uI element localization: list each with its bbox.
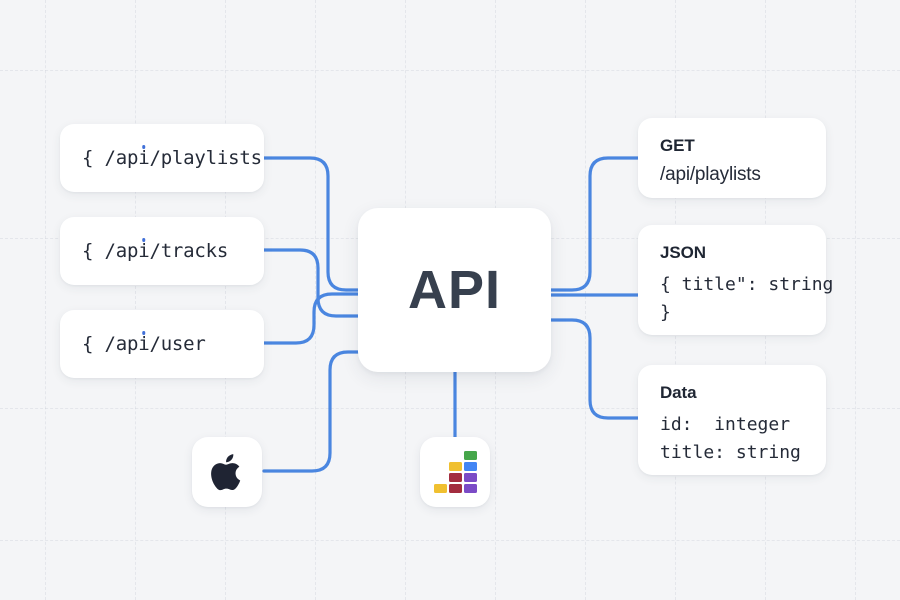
- diagram-canvas: { /api/playlists { /api/tracks { /api/us…: [0, 0, 900, 600]
- response-card-json-line-2: }: [660, 299, 804, 327]
- apple-client-tile[interactable]: [192, 437, 262, 507]
- color-block-4: [464, 473, 477, 482]
- response-card-get[interactable]: GET /api/playlists: [638, 118, 826, 198]
- api-node[interactable]: API: [358, 208, 551, 372]
- api-i-accent: i: [138, 240, 149, 262]
- color-block-6: [449, 484, 462, 493]
- grid-line-vertical-3: [315, 0, 317, 600]
- response-card-get-path: /api/playlists: [660, 164, 804, 186]
- api-i-accent: i: [138, 333, 149, 355]
- wire-user-to-api: [264, 294, 358, 343]
- request-card-tracks-label: { /api/tracks: [82, 240, 242, 262]
- grid-line-horizontal-3: [0, 540, 900, 542]
- grid-line-vertical-6: [585, 0, 587, 600]
- grid-line-vertical-9: [855, 0, 857, 600]
- response-card-json-line-1: { title": string: [660, 271, 804, 299]
- response-card-data-line-2: title: string: [660, 439, 804, 467]
- grid-line-vertical-2: [225, 0, 227, 600]
- response-card-get-title: GET: [660, 136, 804, 156]
- response-card-json[interactable]: JSON { title": string }: [638, 225, 826, 335]
- response-card-json-title: JSON: [660, 243, 804, 263]
- grid-line-vertical-0: [45, 0, 47, 600]
- request-card-user[interactable]: { /api/user: [60, 310, 264, 378]
- color-block-5: [434, 484, 447, 493]
- grid-line-horizontal-0: [0, 70, 900, 72]
- apple-logo-icon: [209, 451, 245, 493]
- request-card-playlists-label: { /api/playlists: [82, 147, 242, 169]
- response-card-data-line-1: id: integer: [660, 411, 804, 439]
- color-block-7: [464, 484, 477, 493]
- wire-api-to-data: [551, 320, 638, 418]
- response-card-data[interactable]: Data id: integer title: string: [638, 365, 826, 475]
- color-block-2: [464, 462, 477, 471]
- color-block-1: [449, 462, 462, 471]
- request-card-playlists[interactable]: { /api/playlists: [60, 124, 264, 192]
- grid-line-vertical-1: [135, 0, 137, 600]
- color-blocks-icon: [433, 451, 477, 493]
- blocks-client-tile[interactable]: [420, 437, 490, 507]
- color-block-3: [449, 473, 462, 482]
- api-i-accent: i: [138, 147, 149, 169]
- request-card-tracks[interactable]: { /api/tracks: [60, 217, 264, 285]
- request-card-user-label: { /api/user: [82, 333, 242, 355]
- wire-apple-to-api: [264, 352, 358, 471]
- wire-playlists-to-api: [264, 158, 358, 290]
- color-block-0: [464, 451, 477, 460]
- api-node-label: API: [408, 259, 501, 321]
- response-card-data-title: Data: [660, 383, 804, 403]
- wire-tracks-to-api: [264, 250, 358, 316]
- wire-api-to-get: [551, 158, 638, 290]
